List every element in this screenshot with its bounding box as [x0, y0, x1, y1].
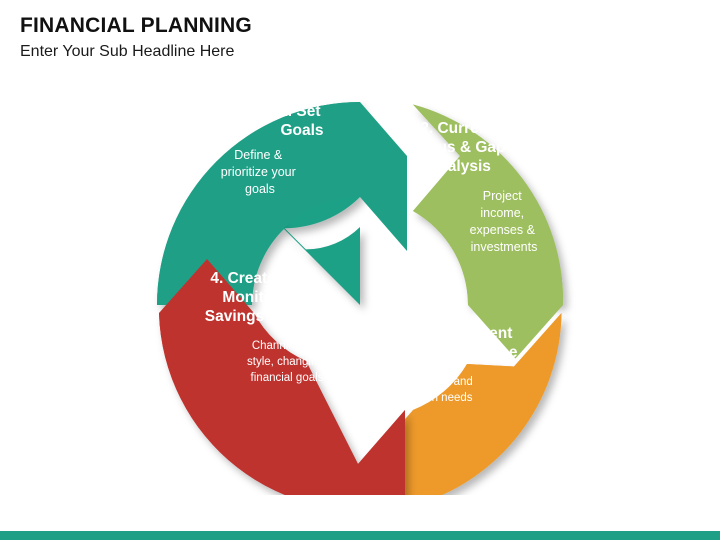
cycle-step-2[interactable]: 2. Current Status & Gap Analysis Project…	[408, 105, 610, 360]
cycle-step-4-body: Channing life style, changing financial …	[247, 340, 327, 384]
footer-accent-bar	[0, 531, 720, 540]
cycle-diagram-svg: 1. Set Goals Define & prioritize your go…	[110, 55, 610, 495]
cycle-step-4[interactable]: 4. Create & Monitor Savings Plan Channin…	[159, 259, 405, 495]
slide-canvas: FINANCIAL PLANNING Enter Your Sub Headli…	[0, 0, 720, 540]
page-title: FINANCIAL PLANNING	[20, 14, 660, 38]
cycle-step-1-arrow[interactable]	[360, 102, 407, 251]
cycle-diagram: 1. Set Goals Define & prioritize your go…	[110, 55, 610, 495]
